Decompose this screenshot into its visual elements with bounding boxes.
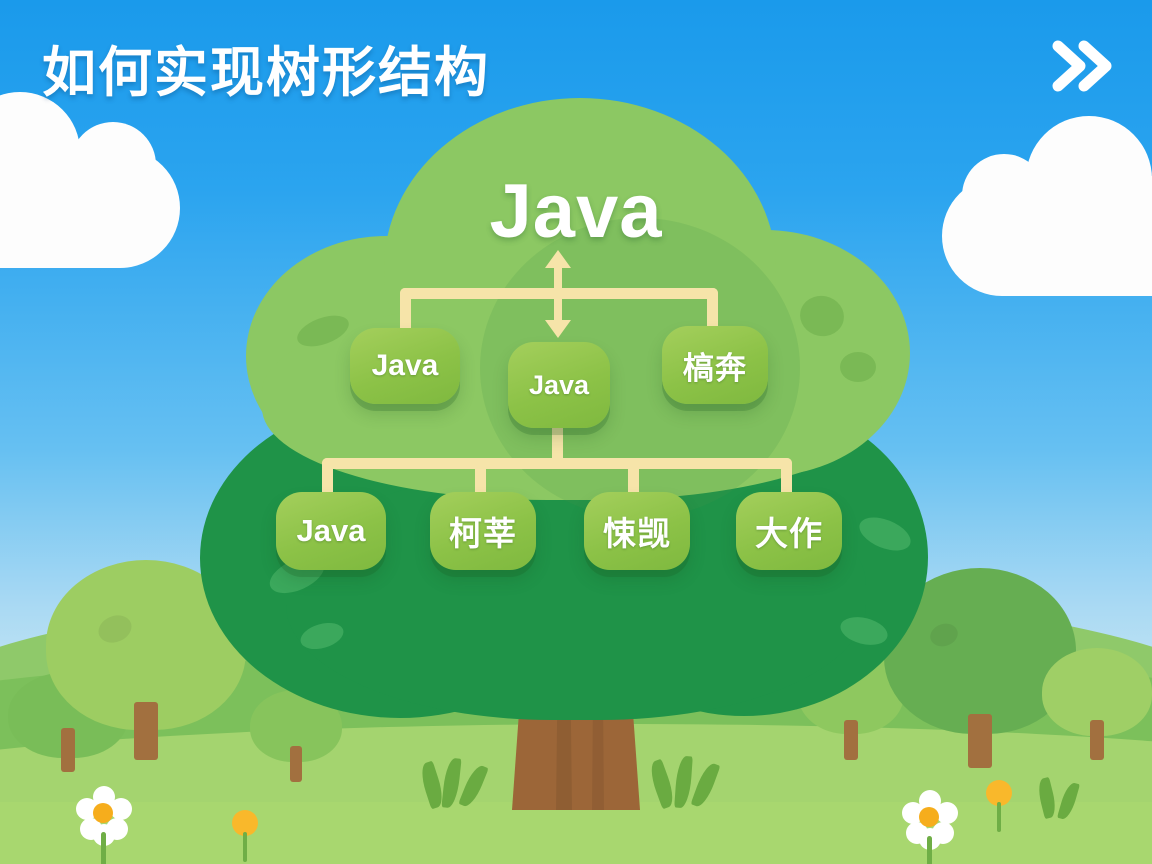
node-l2-2[interactable]: 柯莘: [430, 492, 536, 570]
node-l2-1[interactable]: Java: [276, 492, 386, 570]
daisy-flower: [76, 786, 130, 864]
page-title: 如何实现树形结构: [42, 28, 490, 107]
bud-flower: [232, 810, 260, 864]
node-l2-3[interactable]: 悚觊: [584, 492, 690, 570]
node-l1-2[interactable]: Java: [508, 342, 610, 428]
node-l1-3[interactable]: 槁奔: [662, 326, 768, 404]
connector-l1-horizontal: [400, 288, 718, 299]
bud-flower: [986, 780, 1014, 834]
node-label: Java: [297, 513, 366, 549]
node-label: 悚觊: [603, 507, 671, 555]
daisy-flower: [902, 790, 956, 864]
double-chevron-right-icon[interactable]: [1052, 38, 1114, 94]
node-label: 柯莘: [449, 507, 517, 555]
node-l2-4[interactable]: 大作: [736, 492, 842, 570]
node-label: Java: [529, 370, 589, 401]
node-l1-1[interactable]: Java: [350, 328, 460, 404]
node-label: 大作: [755, 507, 823, 555]
slide-header: 如何实现树形结构: [0, 0, 1152, 130]
connector-l2-horizontal: [322, 458, 792, 469]
node-label: Java: [372, 349, 439, 383]
diagram-root-label: Java: [0, 168, 1152, 255]
node-label: 槁奔: [683, 343, 747, 388]
slide-canvas: Java Java Java 槁奔 Java: [0, 0, 1152, 864]
